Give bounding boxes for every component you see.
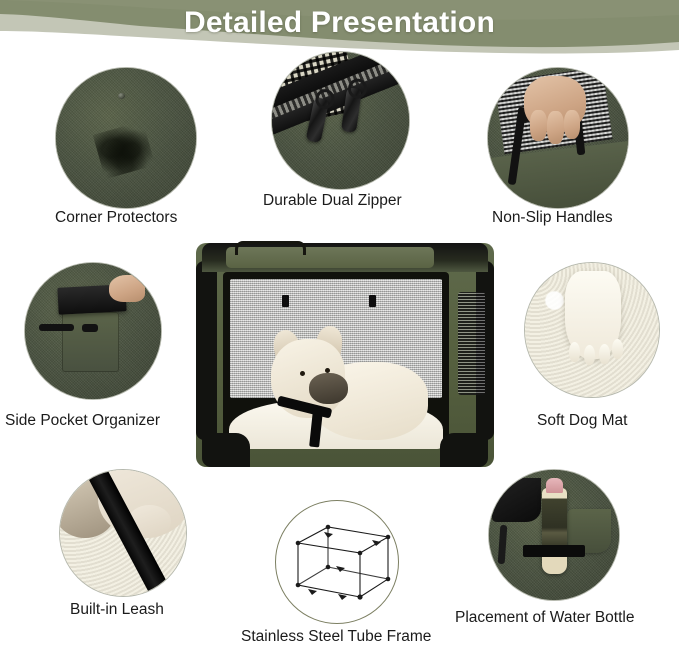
- feature-built-in-leash[interactable]: [60, 470, 186, 596]
- stainless-steel-tube-frame-image: [275, 500, 399, 624]
- feature-label-soft-dog-mat: Soft Dog Mat: [537, 412, 627, 430]
- feature-label-placement-of-water-bottle: Placement of Water Bottle: [455, 609, 634, 627]
- finger-1: [530, 110, 547, 141]
- feature-soft-dog-mat[interactable]: [525, 263, 659, 397]
- feature-non-slip-handles[interactable]: [488, 68, 628, 208]
- feature-label-durable-dual-zipper: Durable Dual Zipper: [263, 192, 402, 210]
- feature-label-side-pocket-organizer: Side Pocket Organizer: [5, 412, 160, 430]
- crate-corner-br: [440, 433, 488, 467]
- frame-drawing: [276, 501, 398, 623]
- crate-corner-bl: [202, 433, 250, 467]
- pocket-tab: [82, 324, 98, 332]
- built-in-leash-image: [60, 470, 186, 596]
- finger-3: [564, 110, 581, 139]
- crate-side-mesh: [458, 292, 485, 395]
- dog-eye-left: [300, 371, 305, 376]
- soft-dog-mat-image: [525, 263, 659, 397]
- crate-left-post: [196, 261, 217, 440]
- water-bottle-cap: [546, 478, 563, 494]
- feature-durable-dual-zipper[interactable]: [272, 52, 409, 189]
- product-image: [196, 243, 494, 467]
- feature-label-non-slip-handles: Non-Slip Handles: [492, 209, 613, 227]
- feature-stainless-steel-tube-frame[interactable]: [275, 500, 399, 624]
- corner-protectors-image: [56, 68, 196, 208]
- side-pocket-organizer-image: [25, 263, 161, 399]
- feature-placement-of-water-bottle[interactable]: [489, 470, 619, 600]
- feature-side-pocket-organizer[interactable]: [25, 263, 161, 399]
- paw-toe-1: [569, 342, 580, 362]
- dog-muzzle: [309, 373, 348, 404]
- non-slip-handles-image: [488, 68, 628, 208]
- mesh-tab-right: [369, 295, 376, 307]
- crate-top-handle: [235, 241, 307, 255]
- durable-dual-zipper-image: [272, 52, 409, 189]
- pocket-webbing: [39, 324, 74, 331]
- water-bottle: [542, 488, 567, 574]
- page-title: Detailed Presentation: [0, 6, 679, 40]
- feature-corner-protectors[interactable]: [56, 68, 196, 208]
- pocket-corner-flap: [492, 478, 541, 522]
- dog: [268, 333, 429, 445]
- paw-toe-4: [612, 339, 623, 359]
- feature-label-built-in-leash: Built-in Leash: [70, 601, 164, 619]
- infographic-page: Detailed Presentation Corner Protectors …: [0, 0, 679, 655]
- hand: [109, 275, 144, 302]
- paw-toe-2: [584, 345, 595, 365]
- feature-label-stainless-steel-tube-frame: Stainless Steel Tube Frame: [241, 628, 431, 646]
- feature-label-corner-protectors: Corner Protectors: [55, 209, 177, 227]
- finger-2: [547, 111, 564, 143]
- placement-of-water-bottle-image: [489, 470, 619, 600]
- water-bottle-strap: [523, 545, 585, 557]
- mesh-tab-left: [282, 295, 289, 307]
- paw-toe-3: [599, 344, 610, 364]
